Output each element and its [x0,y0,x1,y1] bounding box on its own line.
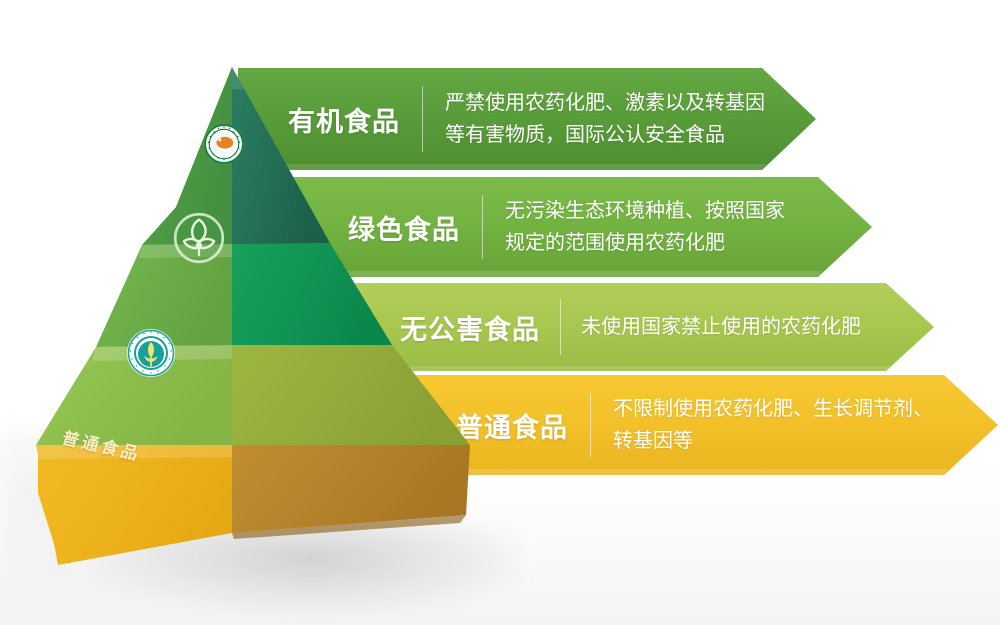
infographic-canvas: 有机食品 严禁使用农药化肥、激素以及转基因 等有害物质，国际公认安全食品 绿色食… [0,0,1000,625]
banner-ordinary-description: 不限制使用农药化肥、生长调节剂、 转基因等 [613,393,933,458]
china-organic-product-seal-icon[interactable] [203,123,245,165]
banner-ordinary-divider [590,393,591,457]
pyramid-graphic [0,45,500,565]
banner-green-description: 无污染生态环境种植、按照国家 规定的范围使用农药化肥 [505,195,785,260]
banner-safe-description: 未使用国家禁止使用的农药化肥 [581,311,861,343]
banner-safe-divider [560,299,561,355]
green-food-leaf-emblem-icon[interactable] [172,211,226,265]
pollution-free-agriproduct-emblem-icon[interactable] [126,328,176,378]
